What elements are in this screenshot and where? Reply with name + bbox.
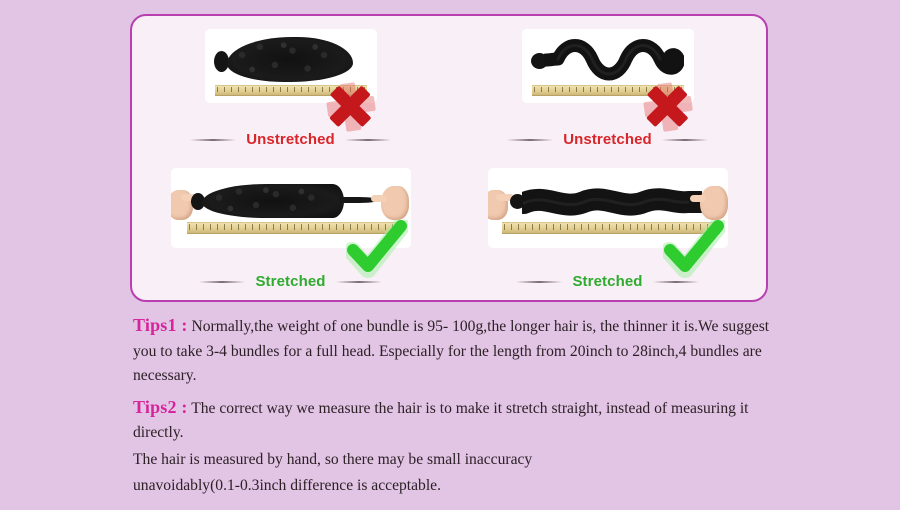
tips-block: Tips1 : Normally,the weight of one bundl… — [133, 313, 783, 501]
ruler-icon — [187, 222, 401, 234]
ruler-icon — [502, 222, 720, 234]
body-wave-hair-stretched — [522, 184, 702, 220]
quadrant-top-right: Unstretched — [449, 16, 766, 158]
caption-rule-right — [345, 139, 391, 141]
caption-rule-left — [190, 139, 236, 141]
tip1-text: Normally,the weight of one bundle is 95-… — [133, 318, 769, 384]
tip2-line3: unavoidably(0.1-0.3inch difference is ac… — [133, 474, 783, 499]
quadrant-top-left: Unstretched — [132, 16, 449, 158]
caption-stretched-right: Stretched — [449, 273, 766, 290]
caption-rule-right — [336, 281, 382, 283]
caption-label: Unstretched — [246, 131, 335, 148]
caption-unstretched-right: Unstretched — [449, 131, 766, 148]
right-hand-icon — [700, 186, 728, 220]
tip1-paragraph: Tips1 : Normally,the weight of one bundl… — [133, 313, 783, 389]
tip2-text: The correct way we measure the hair is t… — [133, 400, 749, 442]
measurement-comparison-panel: Unstretched — [130, 14, 768, 302]
caption-rule-right — [662, 139, 708, 141]
quadrant-bottom-left: Stretched — [132, 158, 449, 300]
kinky-curly-hair-mass — [227, 37, 353, 82]
caption-label: Unstretched — [563, 131, 652, 148]
photo-body-wave-stretched — [488, 168, 728, 248]
caption-label: Stretched — [255, 273, 325, 290]
ruler-icon — [532, 85, 684, 96]
photo-kinky-curly-stretched — [171, 168, 411, 248]
body-wave-hair-strand — [544, 35, 684, 85]
ruler-icon — [215, 85, 367, 96]
right-hand-finger — [690, 195, 706, 202]
tip2-block: Tips2 : The correct way we measure the h… — [133, 395, 783, 499]
caption-rule-left — [507, 139, 553, 141]
caption-unstretched-left: Unstretched — [132, 131, 449, 148]
hair-measuring-tips-infographic: { "page": { "background_color": "#e2c5e5… — [0, 0, 900, 510]
right-hand-icon — [381, 186, 409, 220]
caption-rule-left — [516, 281, 562, 283]
caption-rule-left — [199, 281, 245, 283]
kinky-curly-hair-stretched — [202, 184, 344, 218]
tip2-paragraph: Tips2 : The correct way we measure the h… — [133, 395, 783, 446]
tip1-label: Tips1 : — [133, 315, 188, 335]
caption-stretched-left: Stretched — [132, 273, 449, 290]
tip2-line2: The hair is measured by hand, so there m… — [133, 448, 783, 473]
right-hand-finger — [371, 195, 387, 202]
photo-kinky-curly-unstretched — [205, 29, 377, 103]
caption-rule-right — [653, 281, 699, 283]
caption-label: Stretched — [572, 273, 642, 290]
quadrant-bottom-right: Stretched — [449, 158, 766, 300]
photo-body-wave-unstretched — [522, 29, 694, 103]
panel-grid: Unstretched — [132, 16, 766, 300]
tip2-label: Tips2 : — [133, 397, 188, 417]
